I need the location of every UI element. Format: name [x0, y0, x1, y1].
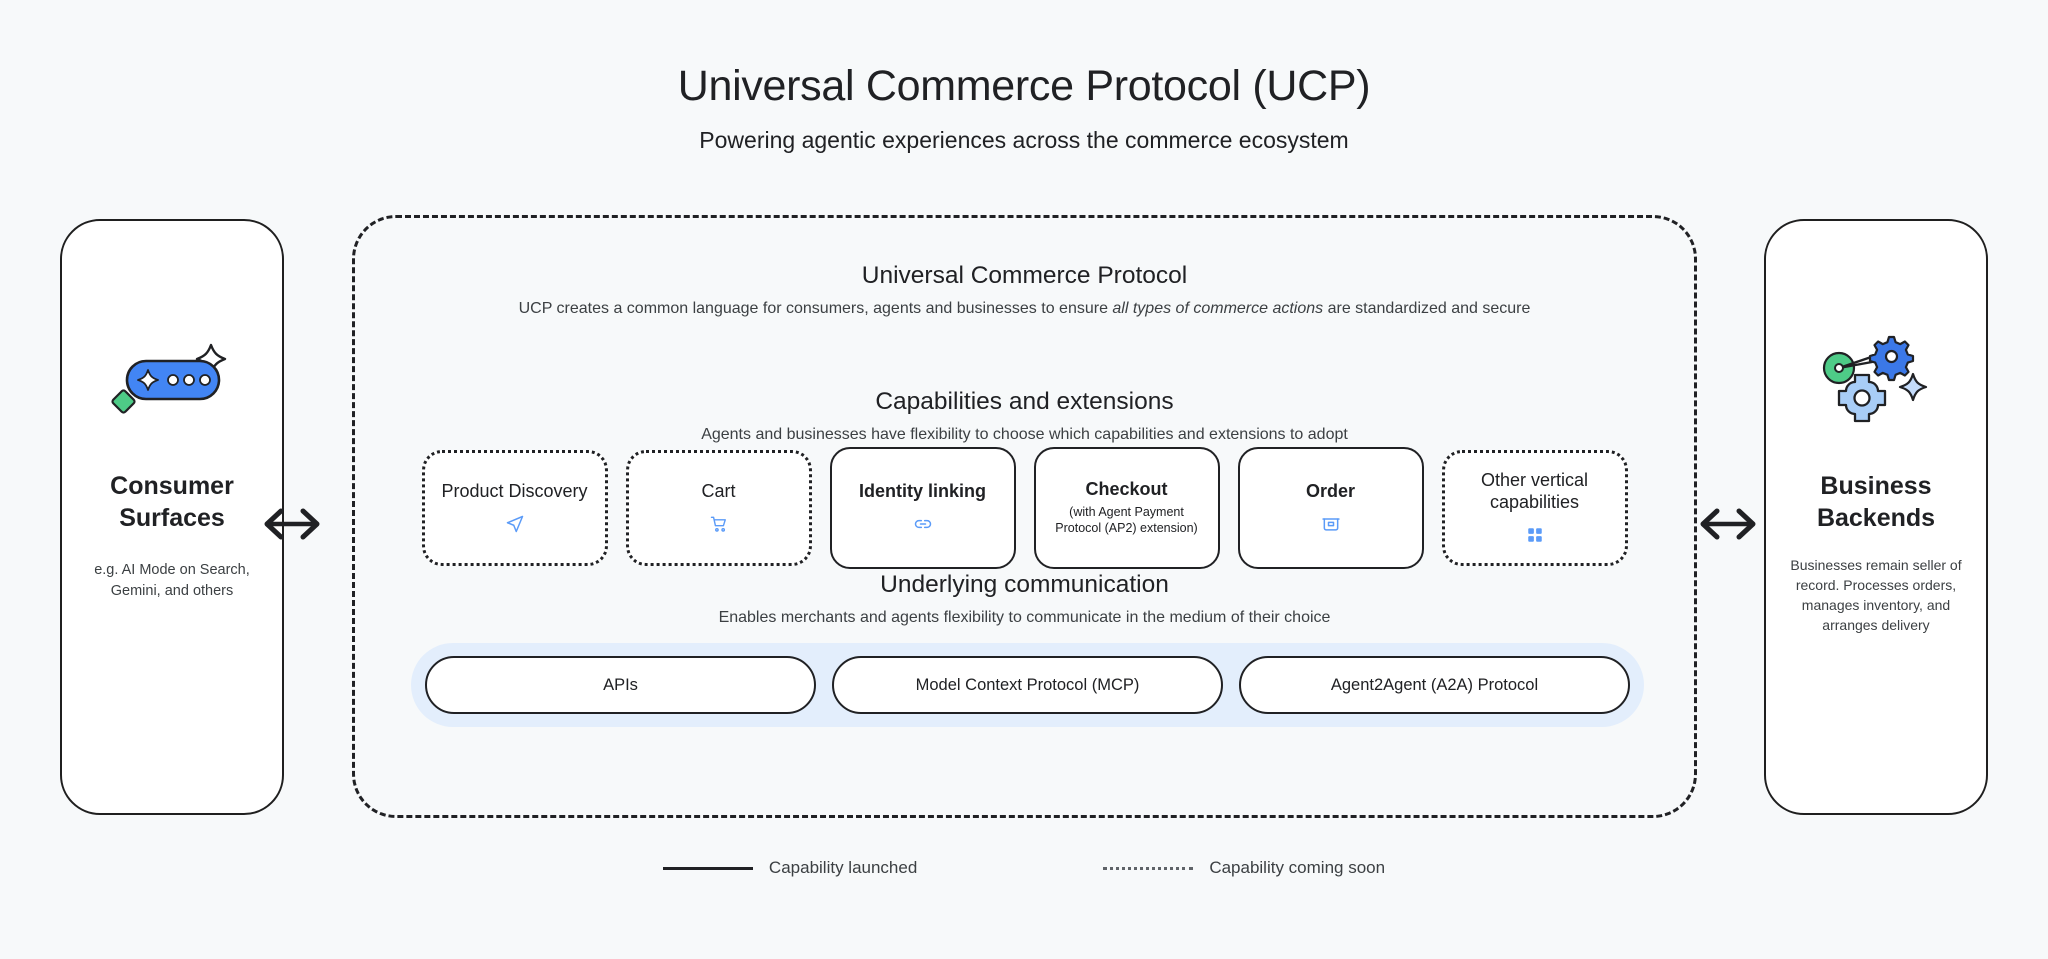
page-subtitle: Powering agentic experiences across the …: [0, 127, 2048, 154]
legend-label: Capability launched: [769, 858, 917, 878]
chat-sparkle-icon: [107, 331, 237, 426]
ucp-desc-emphasis: all types of commerce actions: [1112, 300, 1323, 317]
ucp-container: Universal Commerce Protocol UCP creates …: [352, 215, 1697, 818]
capability-title: Order: [1306, 481, 1355, 503]
ucp-description: UCP creates a common language for consum…: [355, 298, 1694, 321]
page-header: Universal Commerce Protocol (UCP) Poweri…: [0, 62, 2048, 154]
legend: Capability launched Capability coming so…: [0, 858, 2048, 878]
page-title: Universal Commerce Protocol (UCP): [0, 62, 2048, 111]
capability-title: Product Discovery: [441, 481, 587, 503]
consumer-surfaces-panel: Consumer Surfaces e.g. AI Mode on Search…: [60, 219, 284, 815]
ucp-desc-part1: UCP creates a common language for consum…: [519, 300, 1113, 317]
underlying-subheading: Enables merchants and agents flexibility…: [355, 607, 1694, 630]
basket-icon: [1321, 513, 1341, 535]
consumer-to-ucp-arrow: [261, 504, 323, 544]
business-backends-title: Business Backends: [1766, 470, 1986, 534]
underlying-heading: Underlying communication: [355, 571, 1694, 599]
ucp-to-business-arrow: [1697, 504, 1759, 544]
capabilities-subheading: Agents and businesses have flexibility t…: [355, 424, 1694, 447]
underlying-intro-block: Underlying communication Enables merchan…: [355, 571, 1694, 630]
ucp-heading: Universal Commerce Protocol: [355, 262, 1694, 290]
shopping-cart-icon: [709, 513, 729, 535]
ucp-desc-part2: are standardized and secure: [1323, 300, 1530, 317]
consumer-surfaces-description: e.g. AI Mode on Search, Gemini, and othe…: [62, 560, 282, 601]
capability-subtitle: (with Agent Payment Protocol (AP2) exten…: [1048, 505, 1206, 536]
send-icon: [505, 513, 525, 535]
business-backends-description: Businesses remain seller of record. Proc…: [1766, 556, 1986, 636]
capability-title: Identity linking: [859, 481, 986, 503]
grid-apps-icon: [1526, 524, 1544, 546]
capability-card-identity-linking[interactable]: Identity linking: [830, 447, 1016, 569]
ucp-intro-block: Universal Commerce Protocol UCP creates …: [355, 262, 1694, 321]
gears-sparkle-icon: [1811, 331, 1941, 426]
protocol-pill-apis[interactable]: APIs: [425, 656, 816, 714]
protocol-pill-mcp[interactable]: Model Context Protocol (MCP): [832, 656, 1223, 714]
diagram-canvas: Universal Commerce Protocol (UCP) Poweri…: [0, 0, 2048, 959]
dotted-line-swatch: [1103, 867, 1193, 870]
capability-card-other-vertical[interactable]: Other vertical capabilities: [1442, 450, 1628, 566]
capability-title: Cart: [701, 481, 735, 503]
capability-title: Checkout: [1085, 479, 1167, 501]
link-icon: [913, 513, 933, 535]
capability-card-order[interactable]: Order: [1238, 447, 1424, 569]
legend-item-coming-soon: Capability coming soon: [1103, 858, 1385, 878]
consumer-surfaces-title: Consumer Surfaces: [62, 470, 282, 534]
business-backends-panel: Business Backends Businesses remain sell…: [1764, 219, 1988, 815]
capabilities-heading: Capabilities and extensions: [355, 388, 1694, 416]
solid-line-swatch: [663, 867, 753, 870]
capability-card-product-discovery[interactable]: Product Discovery: [422, 450, 608, 566]
legend-item-launched: Capability launched: [663, 858, 917, 878]
capability-card-row: Product Discovery Cart: [355, 447, 1694, 569]
capability-card-cart[interactable]: Cart: [626, 450, 812, 566]
protocol-pill-a2a[interactable]: Agent2Agent (A2A) Protocol: [1239, 656, 1630, 714]
protocol-pill-tray: APIs Model Context Protocol (MCP) Agent2…: [411, 643, 1644, 727]
capability-title: Other vertical capabilities: [1457, 470, 1613, 514]
legend-label: Capability coming soon: [1209, 858, 1385, 878]
capability-card-checkout[interactable]: Checkout (with Agent Payment Protocol (A…: [1034, 447, 1220, 569]
capabilities-intro-block: Capabilities and extensions Agents and b…: [355, 388, 1694, 447]
